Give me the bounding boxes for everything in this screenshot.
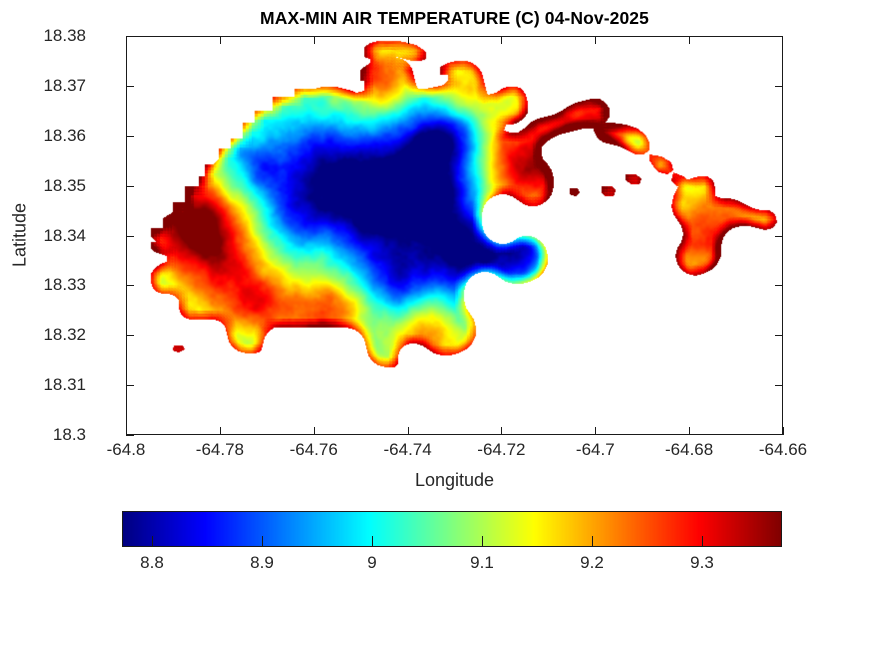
x-tick-64-78 (220, 427, 221, 435)
x-tick-top-64-78 (220, 36, 221, 44)
y-tick-18-36 (126, 136, 134, 137)
y-axis-title: Latitude (10, 203, 31, 267)
y-tick-label-4: 18.34 (43, 226, 86, 246)
x-tick-label-2: -64.76 (290, 440, 338, 460)
colorbar-tick-9-0 (372, 536, 373, 547)
colorbar-tick-9-2 (592, 536, 593, 547)
y-tick-right-18-32 (775, 335, 783, 336)
y-tick-18-33 (126, 285, 134, 286)
colorbar-tick-8-9 (262, 536, 263, 547)
x-tick-label-0: -64.8 (107, 440, 146, 460)
page-title: MAX-MIN AIR TEMPERATURE (C) 04-Nov-2025 (126, 8, 783, 29)
colorbar-label-2: 9 (367, 553, 376, 573)
x-tick-label-6: -64.68 (665, 440, 713, 460)
y-tick-18-37 (126, 86, 134, 87)
y-tick-18-31 (126, 385, 134, 386)
y-tick-18-38 (126, 36, 134, 37)
map-axes (126, 36, 783, 435)
y-tick-label-0: 18.38 (43, 26, 86, 46)
y-tick-18-30 (126, 435, 134, 436)
y-tick-label-7: 18.31 (43, 375, 86, 395)
x-tick-64-70 (595, 427, 596, 435)
y-tick-right-18-33 (775, 285, 783, 286)
x-tick-64-76 (314, 427, 315, 435)
x-tick-64-72 (501, 427, 502, 435)
x-tick-label-7: -64.66 (759, 440, 807, 460)
y-tick-label-6: 18.32 (43, 325, 86, 345)
x-tick-top-64-68 (689, 36, 690, 44)
colorbar-tick-8-8 (152, 536, 153, 547)
y-tick-right-18-37 (775, 86, 783, 87)
temperature-heatmap (127, 37, 782, 434)
x-tick-label-3: -64.74 (383, 440, 431, 460)
x-tick-64-68 (689, 427, 690, 435)
y-tick-18-35 (126, 186, 134, 187)
y-tick-label-2: 18.36 (43, 126, 86, 146)
colorbar-label-0: 8.8 (140, 553, 164, 573)
y-tick-right-18-31 (775, 385, 783, 386)
x-tick-top-64-76 (314, 36, 315, 44)
colorbar-label-5: 9.3 (690, 553, 714, 573)
x-tick-64-66 (783, 427, 784, 435)
colorbar-tick-9-1 (482, 536, 483, 547)
colorbar-tick-9-3 (702, 536, 703, 547)
y-tick-18-32 (126, 335, 134, 336)
y-tick-right-18-35 (775, 186, 783, 187)
x-tick-label-1: -64.78 (196, 440, 244, 460)
y-tick-18-34 (126, 236, 134, 237)
colorbar (122, 511, 782, 547)
y-tick-label-3: 18.35 (43, 176, 86, 196)
y-tick-right-18-34 (775, 236, 783, 237)
colorbar-label-4: 9.2 (580, 553, 604, 573)
x-tick-top-64-70 (595, 36, 596, 44)
matlab-figure-window: MAX-MIN AIR TEMPERATURE (C) 04-Nov-2025 … (0, 0, 875, 656)
x-tick-64-80 (126, 427, 127, 435)
x-axis-title: Longitude (126, 470, 783, 491)
colorbar-gradient (122, 511, 782, 547)
y-tick-label-1: 18.37 (43, 76, 86, 96)
x-tick-top-64-74 (408, 36, 409, 44)
y-tick-label-5: 18.33 (43, 275, 86, 295)
colorbar-label-1: 8.9 (250, 553, 274, 573)
y-tick-label-8: 18.3 (53, 425, 86, 445)
x-tick-label-5: -64.7 (576, 440, 615, 460)
x-tick-64-74 (408, 427, 409, 435)
colorbar-label-3: 9.1 (470, 553, 494, 573)
x-tick-top-64-72 (501, 36, 502, 44)
y-tick-right-18-36 (775, 136, 783, 137)
x-tick-label-4: -64.72 (477, 440, 525, 460)
